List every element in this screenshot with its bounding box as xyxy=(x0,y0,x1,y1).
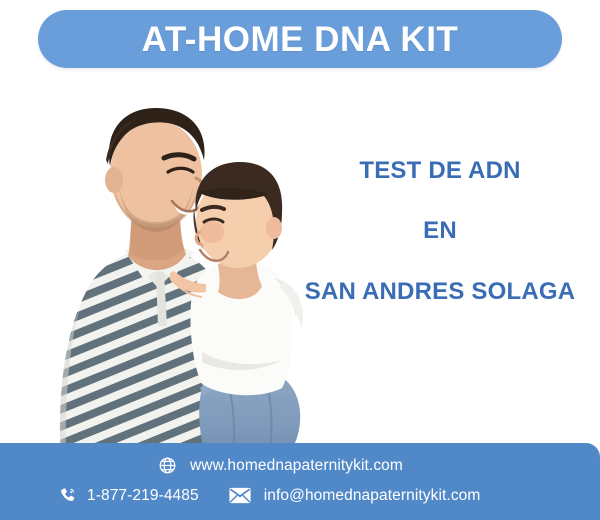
envelope-icon xyxy=(229,487,251,504)
headline-block: TEST DE ADN EN SAN ANDRES SOLAGA xyxy=(292,158,588,305)
header-banner: AT-HOME DNA KIT xyxy=(38,10,562,68)
headline-line-1: TEST DE ADN xyxy=(292,158,588,184)
email-address[interactable]: info@homednapaternitykit.com xyxy=(264,487,481,505)
headline-line-2: EN xyxy=(292,218,588,244)
footer-website-row[interactable]: www.homednapaternitykit.com xyxy=(158,456,403,475)
promo-banner-canvas: AT-HOME DNA KIT xyxy=(0,0,600,520)
phone-number[interactable]: 1-877-219-4485 xyxy=(87,487,199,505)
footer-contact-bar: www.homednapaternitykit.com 1-877-219-44… xyxy=(0,443,600,520)
page-title: AT-HOME DNA KIT xyxy=(142,22,459,57)
globe-icon xyxy=(158,456,177,475)
hero-photo xyxy=(6,82,336,468)
footer-contact-row: 1-877-219-4485 info@homednapaternitykit.… xyxy=(58,486,480,505)
website-url[interactable]: www.homednapaternitykit.com xyxy=(190,457,403,475)
phone-icon xyxy=(58,486,77,505)
headline-line-3: SAN ANDRES SOLAGA xyxy=(292,279,588,305)
